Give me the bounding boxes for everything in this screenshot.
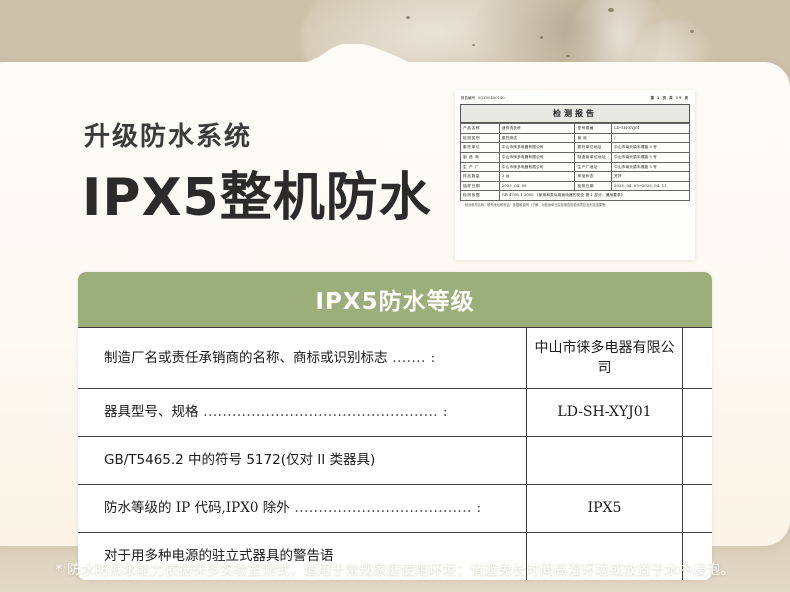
- report-table-row: 生 产 厂中山市徕多电器有限公司生产厂地址中山市南头镇丰顺路 5 号: [461, 162, 690, 172]
- report-table-cell: 检测依据: [461, 191, 500, 201]
- report-table-cell: 委托单位地址: [575, 143, 612, 153]
- report-table-cell: GB 4706.1-2005 《家用和类似用途电器的安全 第 1 部分：通用要求…: [499, 191, 689, 201]
- status-badge: P: [683, 485, 713, 533]
- page-subtitle: 升级防水系统: [84, 116, 252, 153]
- requirement-item: 制造厂名或责任承销商的名称、商标或识别标志 ....... :: [78, 328, 527, 389]
- measured-value: LD-SH-XYJ01: [527, 389, 683, 437]
- report-table-cell: 迷你洗衣杯: [499, 124, 575, 134]
- status-badge: N: [683, 437, 713, 485]
- report-table-cell: 3 台: [499, 172, 575, 182]
- dotted-leader: ........................................…: [199, 404, 448, 420]
- disclaimer-note: * 防水防溅水能力依据徕多实验室测试，适用于常规家庭使用环境；请避免长时间高湿环…: [0, 558, 790, 578]
- water-droplet-icon: [566, 55, 570, 57]
- report-table-row: 制 造 商中山市徕多电器有限公司制造商单位地址中山市南头镇丰顺路 5 号: [461, 152, 690, 162]
- table-row: 器具型号、规格 ................................…: [78, 389, 712, 437]
- report-fade-overlay: [455, 232, 695, 260]
- report-title: 检测报告: [460, 104, 690, 123]
- ipx5-table: IPX5防水等级 制造厂名或责任承销商的名称、商标或识别标志 ....... :…: [78, 272, 712, 580]
- report-table-cell: 委托测试: [499, 133, 575, 143]
- report-table-row: 产品名称迷你洗衣杯型号规格LD-SH-XYJ01: [461, 124, 690, 134]
- ipx5-rows-table: 制造厂名或责任承销商的名称、商标或识别标志 ....... :中山市徕多电器有限…: [78, 327, 712, 580]
- measured-value: IPX5: [527, 485, 683, 533]
- report-table-cell: 型号规格: [575, 124, 612, 134]
- status-badge: P: [683, 389, 713, 437]
- water-droplet-icon: [540, 36, 543, 39]
- report-table-row: 抽样日期2025. 04. 09检测日期2025. 04. 09~2025. 0…: [461, 181, 690, 191]
- report-table-cell: 2025. 04. 09~2025. 04. 11: [612, 181, 690, 191]
- test-report-thumbnail[interactable]: 报告编号: 0QZ50400140 第 2 页 共 19 页 检测报告 产品名称…: [455, 90, 695, 260]
- report-table-cell: 制造商单位地址: [575, 152, 612, 162]
- report-page-info: 第 2 页 共 19 页: [650, 95, 689, 100]
- report-table-cell: 检测日期: [575, 181, 612, 191]
- requirement-item: 防水等级的 IP 代码,IPX0 除外 ....................…: [78, 485, 527, 533]
- report-table-cell: 中山市南头镇丰顺路 5 号: [612, 152, 690, 162]
- water-droplet-icon: [608, 8, 614, 12]
- water-droplet-icon: [690, 30, 694, 33]
- report-table-row: 委托单位中山市徕多电器有限公司委托单位地址中山市南头镇丰顺路 5 号: [461, 143, 690, 153]
- table-row: 防水等级的 IP 代码,IPX0 除外 ....................…: [78, 485, 712, 533]
- table-row: GB/T5465.2 中的符号 5172(仅对 II 类器具)N: [78, 437, 712, 485]
- requirement-text: 器具型号、规格: [104, 404, 199, 420]
- report-table-row: 检测依据GB 4706.1-2005 《家用和类似用途电器的安全 第 1 部分：…: [461, 191, 690, 201]
- report-footnote: 检测机构名称、联系地址和电话：依据和说明（了解、对检测单元实际报告的检测项目及判…: [455, 201, 695, 210]
- report-meta: 报告编号: 0QZ50400140 第 2 页 共 19 页: [455, 90, 695, 103]
- page-title: IPX5整机防水: [82, 155, 432, 230]
- report-table-cell: 中山市南头镇丰顺路 5 号: [612, 162, 690, 172]
- report-table-cell: 产品名称: [461, 124, 500, 134]
- dotted-leader: ....... :: [388, 350, 436, 366]
- report-table-cell: 商 标: [575, 133, 612, 143]
- report-table-cell: 中山市徕多电器有限公司: [499, 143, 575, 153]
- report-table-cell: 2025. 04. 09: [499, 181, 575, 191]
- requirement-item: 器具型号、规格 ................................…: [78, 389, 527, 437]
- promo-banner: 升级防水系统 IPX5整机防水 报告编号: 0QZ50400140 第 2 页 …: [0, 0, 790, 592]
- water-droplet-icon: [406, 16, 410, 19]
- report-table-cell: 完好: [612, 172, 690, 182]
- report-table-cell: 中山市徕多电器有限公司: [499, 162, 575, 172]
- measured-value: 中山市徕多电器有限公司: [527, 328, 683, 389]
- measured-value: [527, 437, 683, 485]
- requirement-text: 防水等级的 IP 代码,IPX0 除外: [104, 500, 290, 516]
- report-info-table: 产品名称迷你洗衣杯型号规格LD-SH-XYJ01检测类别委托测试商 标/委托单位…: [460, 123, 690, 201]
- report-table-cell: 样品数量: [461, 172, 500, 182]
- requirement-text: GB/T5465.2 中的符号 5172(仅对 II 类器具): [104, 452, 375, 468]
- report-table-cell: 生 产 厂: [461, 162, 500, 172]
- report-table-cell: 中山市南头镇丰顺路 5 号: [612, 143, 690, 153]
- report-table-cell: 制 造 商: [461, 152, 500, 162]
- ipx5-table-header: IPX5防水等级: [78, 272, 712, 327]
- report-table-row: 样品数量3 台样品状态完好: [461, 172, 690, 182]
- requirement-text: 制造厂名或责任承销商的名称、商标或识别标志: [104, 350, 388, 366]
- report-table-cell: 委托单位: [461, 143, 500, 153]
- status-badge: P: [683, 328, 713, 389]
- report-table-cell: 抽样日期: [461, 181, 500, 191]
- report-table-cell: 检测类别: [461, 133, 500, 143]
- report-table-cell: 中山市徕多电器有限公司: [499, 152, 575, 162]
- table-row: 制造厂名或责任承销商的名称、商标或识别标志 ....... :中山市徕多电器有限…: [78, 328, 712, 389]
- dotted-leader: ..................................... :: [290, 500, 482, 516]
- report-table-cell: 样品状态: [575, 172, 612, 182]
- report-table-cell: LD-SH-XYJ01: [612, 124, 690, 134]
- report-table-cell: /: [612, 133, 690, 143]
- report-number: 报告编号: 0QZ50400140: [461, 95, 505, 100]
- report-table-row: 检测类别委托测试商 标/: [461, 133, 690, 143]
- report-table-cell: 生产厂地址: [575, 162, 612, 172]
- requirement-item: GB/T5465.2 中的符号 5172(仅对 II 类器具): [78, 437, 527, 485]
